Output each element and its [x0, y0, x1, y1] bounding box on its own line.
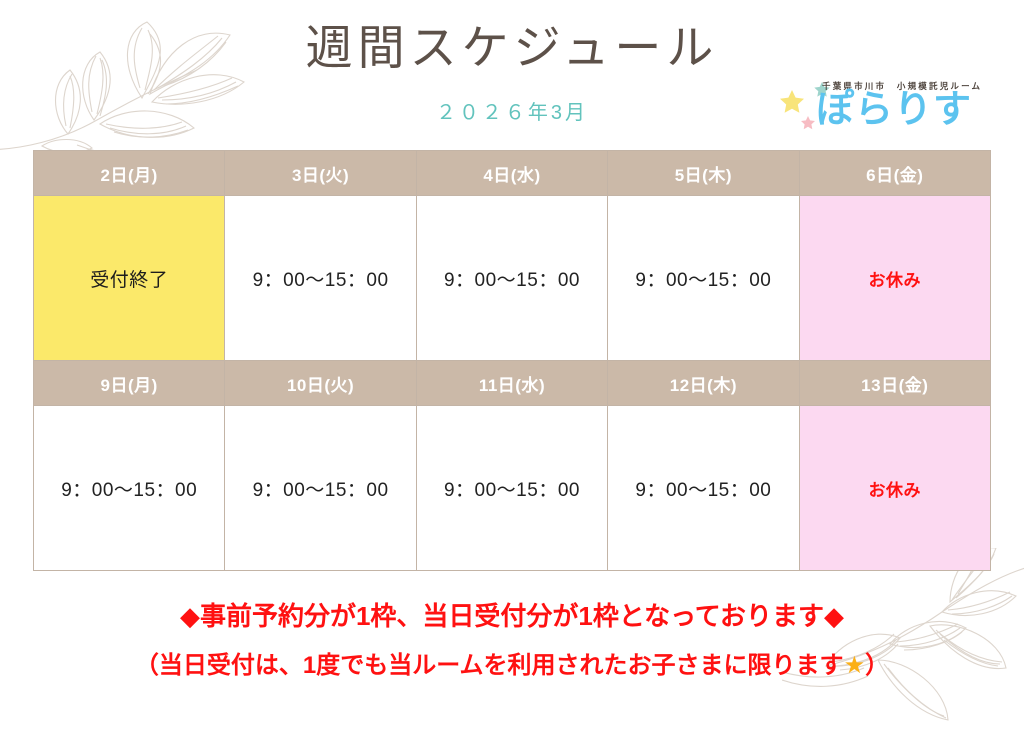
day-header-cell: 5日(木): [608, 151, 799, 196]
notice-area: ◆事前予約分が1枠、当日受付分が1枠となっております◆ （当日受付は、1度でも当…: [0, 600, 1024, 681]
week-header-row: 9日(月) 10日(火) 11日(水) 12日(木) 13日(金): [34, 361, 991, 406]
logo-name: ぽらりす: [816, 90, 972, 132]
schedule-table-container: 2日(月) 3日(火) 4日(水) 5日(木) 6日(金) 受付終了 9：00〜…: [33, 150, 991, 571]
day-header-cell: 9日(月): [34, 361, 225, 406]
weekly-schedule-table: 2日(月) 3日(火) 4日(水) 5日(木) 6日(金) 受付終了 9：00〜…: [33, 150, 991, 571]
day-header-cell: 13日(金): [799, 361, 990, 406]
star-icon: ★: [844, 652, 866, 679]
day-header-cell: 4日(水): [416, 151, 607, 196]
schedule-cell-full[interactable]: 受付終了: [34, 196, 225, 361]
week-slot-row: 9：00〜15：00 9：00〜15：00 9：00〜15：00 9：00〜15…: [34, 406, 991, 571]
notice-primary: ◆事前予約分が1枠、当日受付分が1枠となっております◆: [0, 600, 1024, 634]
schedule-cell-open[interactable]: 9：00〜15：00: [416, 406, 607, 571]
day-header-cell: 10日(火): [225, 361, 416, 406]
schedule-cell-closed[interactable]: お休み: [799, 406, 990, 571]
day-header-cell: 3日(火): [225, 151, 416, 196]
day-header-cell: 11日(水): [416, 361, 607, 406]
day-header-cell: 6日(金): [799, 151, 990, 196]
day-header-cell: 12日(木): [608, 361, 799, 406]
schedule-cell-open[interactable]: 9：00〜15：00: [225, 196, 416, 361]
schedule-cell-open[interactable]: 9：00〜15：00: [34, 406, 225, 571]
schedule-body: 2日(月) 3日(火) 4日(水) 5日(木) 6日(金) 受付終了 9：00〜…: [34, 151, 991, 571]
notice-secondary: （当日受付は、1度でも当ルームを利用されたお子さまに限ります★）: [0, 650, 1024, 681]
schedule-cell-open[interactable]: 9：00〜15：00: [416, 196, 607, 361]
schedule-cell-closed[interactable]: お休み: [799, 196, 990, 361]
week-header-row: 2日(月) 3日(火) 4日(水) 5日(木) 6日(金): [34, 151, 991, 196]
schedule-cell-open[interactable]: 9：00〜15：00: [608, 196, 799, 361]
week-slot-row: 受付終了 9：00〜15：00 9：00〜15：00 9：00〜15：00 お休…: [34, 196, 991, 361]
schedule-cell-open[interactable]: 9：00〜15：00: [608, 406, 799, 571]
page-header: 週間スケジュール ２０２６年3月 千葉県市川市 小規模託児ルーム ぽらりす: [0, 0, 1024, 150]
brand-logo: 千葉県市川市 小規模託児ルーム ぽらりす: [774, 78, 996, 140]
day-header-cell: 2日(月): [34, 151, 225, 196]
notice-secondary-text: （当日受付は、1度でも当ルームを利用されたお子さまに限ります: [135, 652, 844, 679]
page-title: 週間スケジュール: [0, 22, 1024, 74]
schedule-cell-open[interactable]: 9：00〜15：00: [225, 406, 416, 571]
notice-secondary-close: ）: [865, 652, 889, 679]
